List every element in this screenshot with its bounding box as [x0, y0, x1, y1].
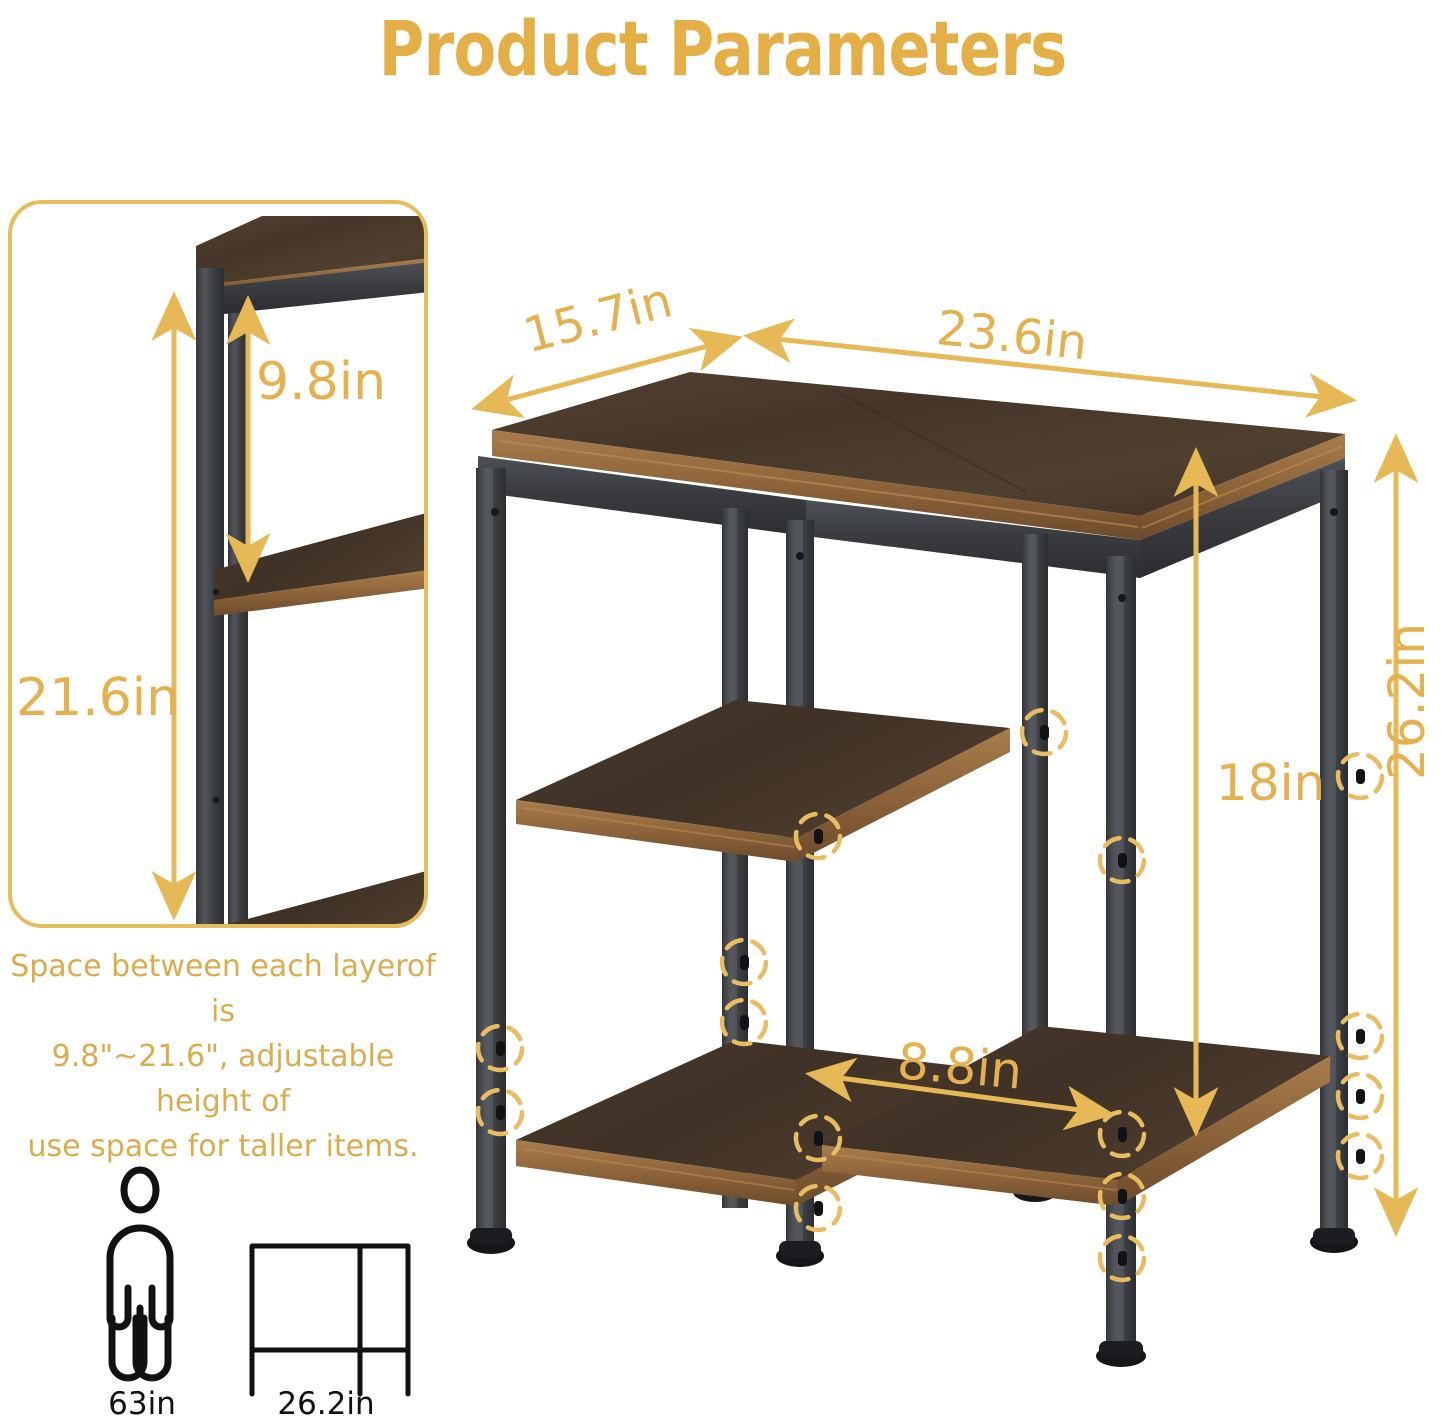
dimension-label-26_2in: 26.2in: [1378, 623, 1436, 780]
product-parameters-diagram: Product Parameters: [0, 0, 1445, 1420]
dimension-label-8_8in: 8.8in: [895, 1032, 1025, 1101]
inset-caption-line-1: Space between each layerof is: [0, 944, 446, 1034]
product-outline-icon: [252, 1246, 408, 1394]
inset-caption: Space between each layerof is 9.8"~21.6"…: [0, 944, 446, 1169]
person-icon: [110, 1170, 170, 1378]
inset-highlight-box: [8, 200, 428, 928]
dimension-label-21_6in: 21.6in: [16, 668, 179, 728]
dimension-label-9_8in: 9.8in: [256, 352, 386, 412]
scale-comparison-icons: [110, 1170, 408, 1394]
inset-caption-line-2: 9.8"~21.6", adjustable height of: [0, 1034, 446, 1124]
main-furniture-illustration: [467, 372, 1358, 1367]
scale-label-product: 26.2in: [226, 1386, 426, 1422]
scale-label-person: 63in: [82, 1386, 202, 1422]
dimension-label-18in: 18in: [1216, 754, 1325, 812]
leg-front-left: [467, 468, 515, 1254]
inset-caption-line-3: use space for taller items.: [0, 1124, 446, 1169]
